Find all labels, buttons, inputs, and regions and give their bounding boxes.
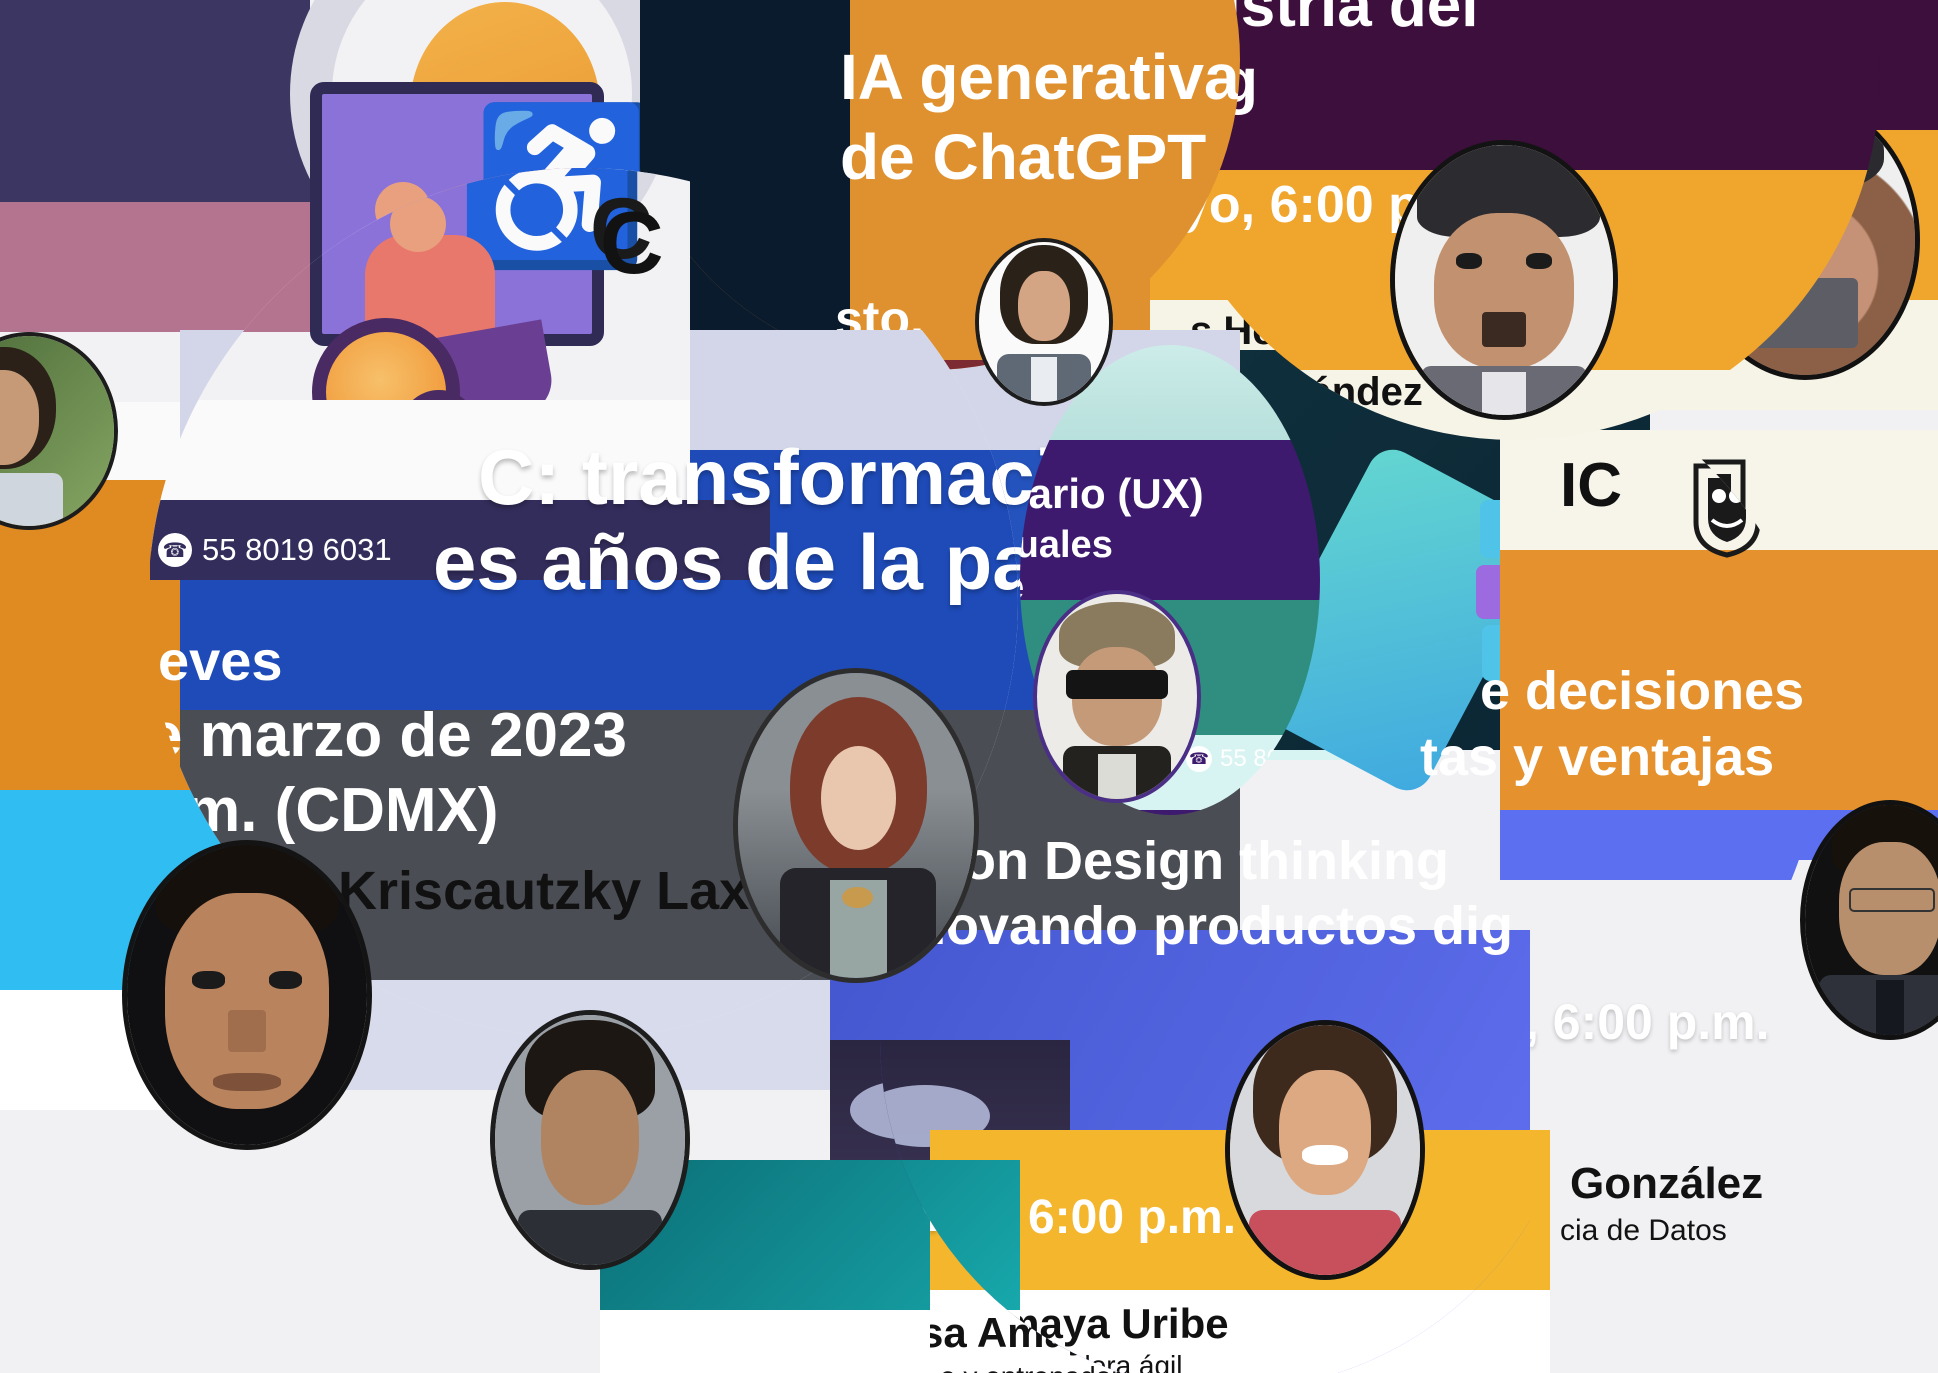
- disc-avatar-outdoor: [0, 332, 118, 530]
- disc-avatar-suit: [1800, 800, 1938, 1040]
- accesibilidad-logo: C: [600, 195, 664, 290]
- disc-avatar-beanie: [1033, 590, 1201, 803]
- disc-avatar-woman: [733, 668, 979, 983]
- decisiones-speaker-name: González: [1570, 1160, 1763, 1208]
- decisiones-speaker-role: cia de Datos: [1560, 1215, 1727, 1247]
- disc-avatar-man-left: [122, 840, 372, 1150]
- disc-avatar-cap: [1390, 140, 1618, 420]
- disc-avatar-woman-3: [1225, 1020, 1425, 1280]
- disc-avatar-woman-2: [975, 238, 1113, 406]
- collage-canvas: ♿ IA generativa: retos y de ChatGPT sto,…: [0, 0, 1938, 1373]
- disc-avatar-bottom: [490, 1010, 690, 1270]
